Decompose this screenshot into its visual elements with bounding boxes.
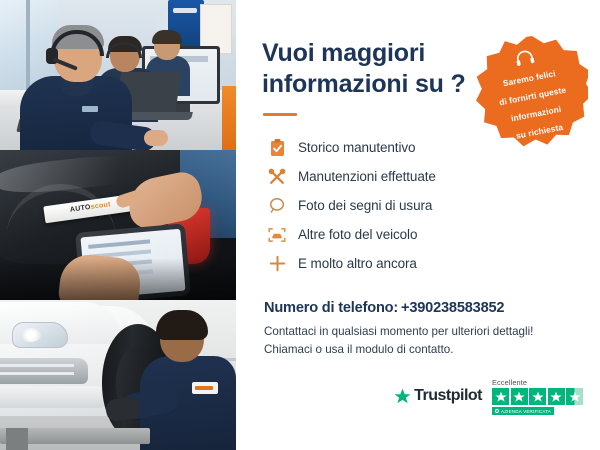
verified-check-icon: [495, 409, 499, 413]
feature-item-foto-usura: Foto dei segni di usura: [266, 191, 578, 220]
garage-wheel-photo: [0, 300, 236, 450]
plus-icon: [266, 254, 288, 274]
feature-label: Manutenzioni effettuate: [298, 169, 436, 184]
verified-badge: AZIENDA VERIFICATA: [492, 407, 554, 415]
verified-label: AZIENDA VERIFICATA: [501, 409, 551, 414]
orange-accent-strip: [222, 86, 236, 150]
content-panel: Vuoi maggiori informazioni su ? Saremo f…: [236, 0, 600, 450]
feature-item-altro-ancora: E molto altro ancora: [266, 249, 578, 278]
strip-logo: AUTOscout: [70, 201, 112, 214]
clipboard-check-icon: [266, 138, 288, 158]
trustpilot-stars: [492, 388, 583, 405]
page-title: Vuoi maggiori informazioni su ?: [262, 38, 472, 99]
car-inspection-photo: AUTOscout: [0, 150, 236, 300]
feature-label: Foto dei segni di usura: [298, 198, 432, 213]
badge-line-3: informazioni: [510, 103, 562, 123]
badge-line-1: Saremo felici: [502, 68, 556, 88]
badge-content: Saremo felici di fornirti queste informa…: [490, 39, 575, 145]
trustpilot-wordmark: Trustpilot: [414, 387, 482, 405]
foreground-agent: [20, 28, 132, 150]
headline-line-2: informazioni su ?: [262, 69, 472, 100]
feature-item-manutenzioni: Manutenzioni effettuate: [266, 162, 578, 191]
trustpilot-widget[interactable]: Trustpilot Eccellente: [394, 378, 583, 416]
bumper-decor: [0, 386, 108, 408]
feature-list: Storico manutentivo Manutenzioni effettu…: [266, 133, 578, 278]
title-divider: [263, 113, 297, 116]
star-4: [548, 388, 565, 405]
feature-label: E molto altro ancora: [298, 256, 417, 271]
call-center-photo: [0, 0, 236, 150]
trustpilot-logo: Trustpilot: [394, 387, 482, 405]
crossed-tools-icon: [266, 167, 288, 187]
feature-label: Altre foto del veicolo: [298, 227, 417, 242]
promo-banner: AUTOscout: [0, 0, 600, 450]
feature-label: Storico manutentivo: [298, 140, 415, 155]
trustpilot-star-icon: [394, 388, 411, 405]
star-2: [511, 388, 528, 405]
callout-badge: Saremo felici di fornirti queste informa…: [476, 36, 588, 148]
star-5: [566, 388, 583, 405]
headline-line-1: Vuoi maggiori: [262, 38, 472, 69]
phone-block: Numero di telefono:+390238583852 Contatt…: [264, 300, 578, 358]
headset-icon: [514, 47, 536, 66]
feature-item-altre-foto: Altre foto del veicolo: [266, 220, 578, 249]
contact-line-2: Chiamaci o usa il modulo di contatto.: [264, 341, 578, 359]
trustpilot-rating: Eccellente: [492, 378, 583, 416]
grille-decor: [0, 358, 88, 384]
phone-number[interactable]: +390238583852: [401, 300, 504, 316]
car-scan-icon: [266, 225, 288, 245]
star-3: [529, 388, 546, 405]
contact-text: Contattaci in qualsiasi momento per ulte…: [264, 323, 578, 358]
mechanic-figure: [140, 314, 236, 450]
star-1: [492, 388, 509, 405]
headlight-decor: [12, 322, 68, 348]
photo-column: AUTOscout: [0, 0, 236, 450]
lift-post: [6, 428, 28, 450]
phone-label: Numero di telefono:: [264, 300, 398, 316]
photo-shadow: [0, 258, 236, 300]
trustpilot-rating-label: Eccellente: [492, 378, 583, 387]
phone-line: Numero di telefono:+390238583852: [264, 300, 578, 316]
magnifier-icon: [266, 196, 288, 216]
contact-line-1: Contattaci in qualsiasi momento per ulte…: [264, 323, 578, 341]
